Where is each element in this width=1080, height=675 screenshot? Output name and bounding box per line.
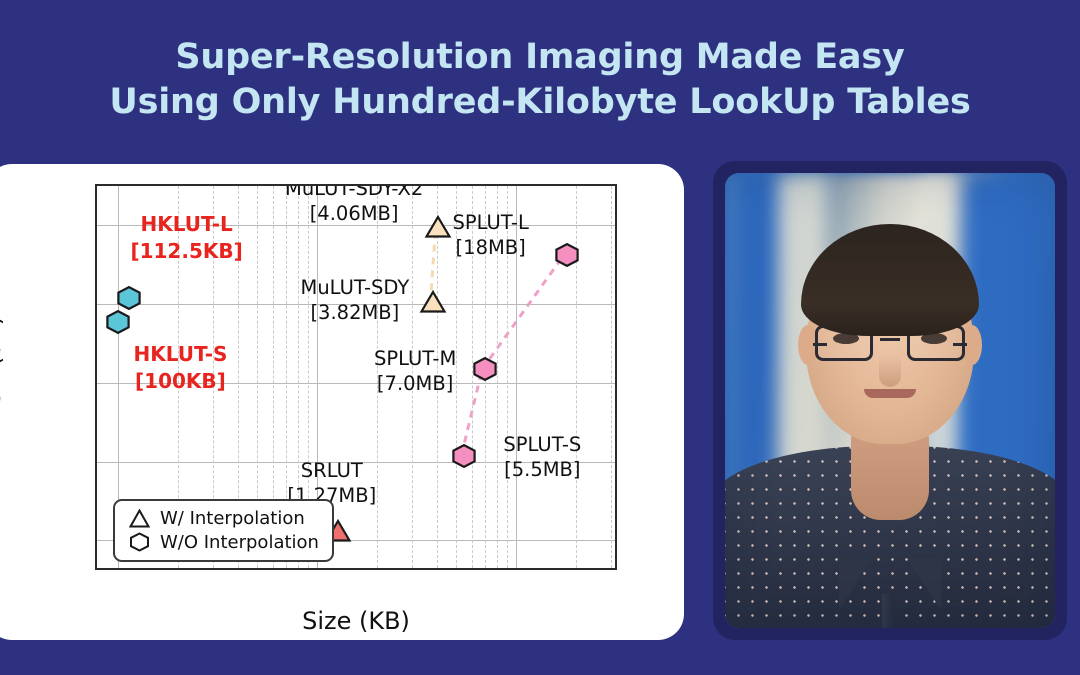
chart-x-axis-label: Size (KB)	[302, 607, 410, 635]
chart-point-size: [3.82MB]	[301, 300, 410, 325]
chart-x-tick-mark-minor	[98, 568, 100, 570]
chart-point-size: [112.5KB]	[130, 238, 242, 265]
chart-plot-area: 29.830.030.230.430.6100100010000HKLUT-S[…	[95, 184, 617, 570]
chart-x-tick-mark-minor	[575, 568, 577, 570]
chart-point-name: HKLUT-S	[133, 341, 227, 368]
legend-label-w-interpolation: W/ Interpolation	[154, 508, 305, 529]
chart-y-tick-label: 29.8	[95, 527, 97, 553]
chart-legend: W/ Interpolation W/O Interpolation	[113, 499, 334, 562]
chart-data-point-mulut-sdy-x2	[425, 215, 452, 243]
chart-x-tick-mark-minor	[436, 568, 438, 570]
page-title-line-1: Super-Resolution Imaging Made Easy	[175, 35, 904, 80]
chart-x-tick-mark-minor	[178, 568, 180, 570]
chart-x-tick-mark-minor	[307, 568, 309, 570]
legend-item-w-interpolation: W/ Interpolation	[124, 506, 319, 530]
poster-header: Super-Resolution Imaging Made Easy Using…	[0, 0, 1080, 159]
chart-connector-line	[482, 256, 563, 369]
legend-item-wo-interpolation: W/O Interpolation	[124, 530, 319, 554]
chart-x-tick-mark-minor	[257, 568, 259, 570]
chart-point-label-splut-s: SPLUT-S[5.5MB]	[503, 432, 581, 482]
chart-y-axis-label: PNSR (dB)	[0, 316, 6, 438]
chart-point-name: MuLUT-SDY-X2	[285, 184, 423, 201]
chart-x-tick-mark	[515, 568, 517, 570]
chart-x-tick-mark-minor	[455, 568, 457, 570]
chart-point-label-hklut-s: HKLUT-S[100KB]	[133, 341, 227, 395]
chart-point-name: SRLUT	[287, 458, 376, 483]
chart-point-size: [7.0MB]	[374, 371, 456, 396]
chart-x-tick-mark	[316, 568, 318, 570]
chart-x-tick-mark-minor	[297, 568, 299, 570]
chart-gridline-vertical-minor	[576, 186, 577, 568]
chart-y-tick-label: 30.4	[95, 291, 97, 317]
chart-point-label-mulut-sdy-x2: MuLUT-SDY-X2[4.06MB]	[285, 184, 423, 226]
page-title-line-2: Using Only Hundred-Kilobyte LookUp Table…	[109, 80, 970, 125]
legend-label-wo-interpolation: W/O Interpolation	[154, 532, 319, 553]
chart-x-tick-mark	[117, 568, 119, 570]
chart-point-name: HKLUT-L	[130, 211, 242, 238]
chart-point-label-hklut-l: HKLUT-L[112.5KB]	[130, 211, 242, 265]
chart-x-tick-mark-minor	[109, 568, 111, 570]
chart-point-name: SPLUT-M	[374, 346, 456, 371]
chart-x-tick-mark-minor	[237, 568, 239, 570]
chart-x-tick-mark-minor	[506, 568, 508, 570]
author-photo	[725, 173, 1055, 628]
chart-x-tick-mark-minor	[213, 568, 215, 570]
chart-y-tick-label: 30.6	[95, 212, 97, 238]
chart-x-tick-mark-minor	[272, 568, 274, 570]
chart-x-tick-label: 10000	[479, 568, 552, 570]
hexagon-icon	[124, 532, 154, 552]
chart-point-size: [5.5MB]	[503, 457, 581, 482]
chart-y-tick-label: 30.0	[95, 449, 97, 475]
chart-card: PNSR (dB) Size (KB) 29.830.030.230.430.6…	[0, 164, 684, 640]
chart-x-tick-mark-minor	[610, 568, 612, 570]
chart-point-name: SPLUT-L	[453, 210, 529, 235]
chart-x-tick-mark-minor	[376, 568, 378, 570]
chart-x-tick-mark-minor	[484, 568, 486, 570]
chart-point-label-splut-l: SPLUT-L[18MB]	[453, 210, 529, 260]
chart-x-tick-mark-minor	[471, 568, 473, 570]
triangle-icon	[124, 509, 154, 528]
chart-x-tick-label: 100	[96, 568, 140, 570]
chart-point-size: [100KB]	[133, 368, 227, 395]
chart-x-tick-mark-minor	[496, 568, 498, 570]
poster-root: Super-Resolution Imaging Made Easy Using…	[0, 0, 1080, 675]
chart-x-tick-mark-minor	[411, 568, 413, 570]
chart-point-size: [4.06MB]	[285, 201, 423, 226]
chart-figure: PNSR (dB) Size (KB) 29.830.030.230.430.6…	[0, 164, 684, 640]
chart-x-tick-label: 1000	[288, 568, 347, 570]
chart-point-name: MuLUT-SDY	[301, 275, 410, 300]
chart-y-tick-label: 30.2	[95, 370, 97, 396]
chart-x-tick-mark-minor	[286, 568, 288, 570]
chart-point-name: SPLUT-S	[503, 432, 581, 457]
chart-point-label-splut-m: SPLUT-M[7.0MB]	[374, 346, 456, 396]
chart-connector-line	[430, 229, 435, 303]
chart-point-size: [18MB]	[453, 235, 529, 260]
chart-point-label-mulut-sdy: MuLUT-SDY[3.82MB]	[301, 275, 410, 325]
chart-gridline-vertical-minor	[611, 186, 612, 568]
author-photo-frame	[713, 161, 1067, 640]
chart-data-point-hklut-l	[116, 286, 142, 315]
